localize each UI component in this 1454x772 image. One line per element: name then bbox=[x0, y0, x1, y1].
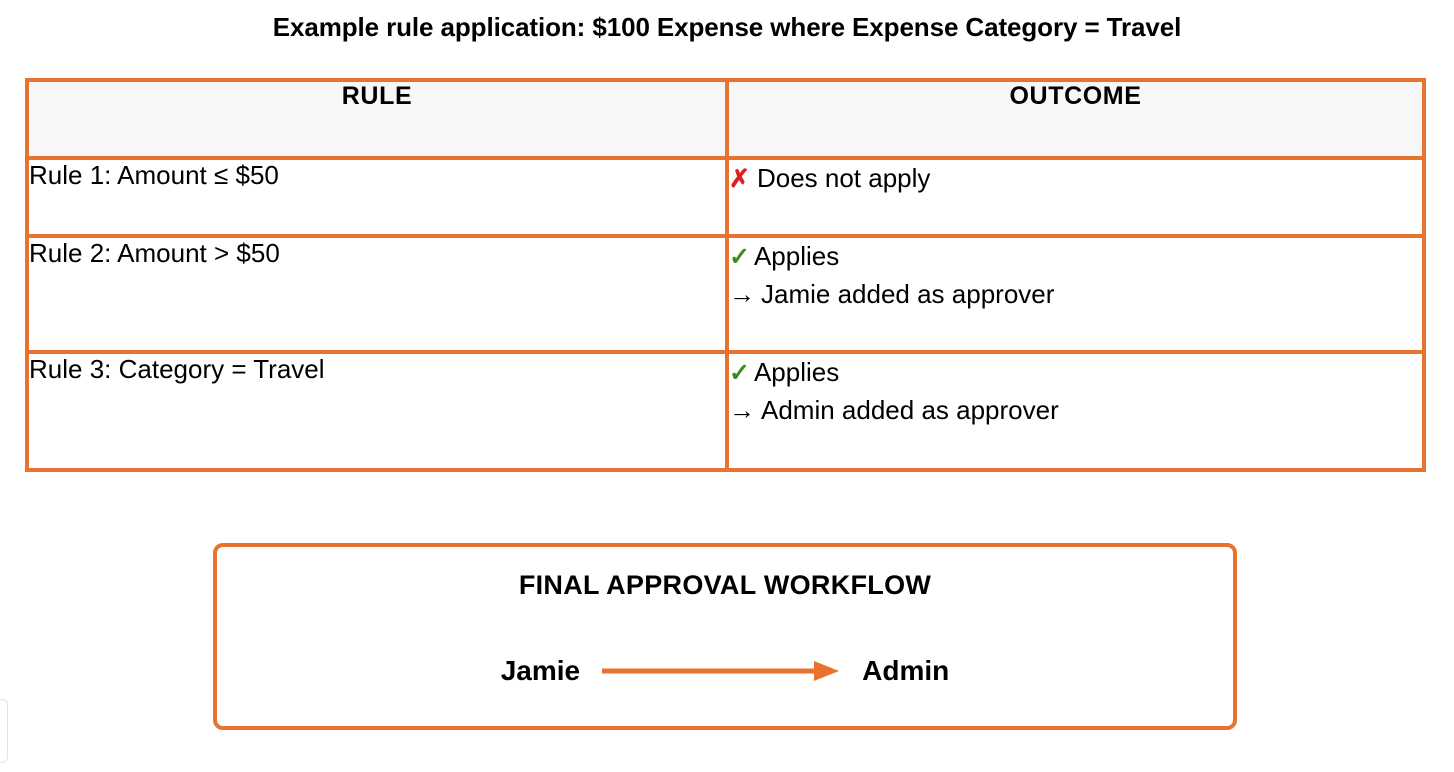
workflow-flow: Jamie Admin bbox=[217, 655, 1233, 687]
outcome-cell-1: ✗Does not apply bbox=[727, 158, 1424, 236]
outcome-cell-3: ✓Applies →Admin added as approver bbox=[727, 352, 1424, 470]
outcome-detail-line-3: →Admin added as approver bbox=[729, 392, 1422, 429]
arrow-right-icon bbox=[602, 659, 840, 683]
outcome-status-line-1: ✗Does not apply bbox=[729, 160, 1422, 198]
outcome-detail-line-2: →Jamie added as approver bbox=[729, 276, 1422, 313]
outcome-status-label-2: Applies bbox=[754, 241, 839, 271]
rules-outcome-table: RULE OUTCOME Rule 1: Amount ≤ $50 ✗Does … bbox=[25, 78, 1426, 472]
rule-text-2: Rule 2: Amount > $50 bbox=[27, 236, 727, 352]
outcome-cell-2: ✓Applies →Jamie added as approver bbox=[727, 236, 1424, 352]
outcome-detail-text-3: Admin added as approver bbox=[761, 395, 1059, 425]
workflow-node-admin: Admin bbox=[862, 655, 949, 687]
page-title: Example rule application: $100 Expense w… bbox=[0, 12, 1454, 43]
workflow-title: FINAL APPROVAL WORKFLOW bbox=[217, 570, 1233, 601]
rule-text-1: Rule 1: Amount ≤ $50 bbox=[27, 158, 727, 236]
table-row: Rule 1: Amount ≤ $50 ✗Does not apply bbox=[27, 158, 1424, 236]
column-header-rule: RULE bbox=[27, 80, 727, 158]
table-row: Rule 2: Amount > $50 ✓Applies →Jamie add… bbox=[27, 236, 1424, 352]
table-row: Rule 3: Category = Travel ✓Applies →Admi… bbox=[27, 352, 1424, 470]
rule-text-3: Rule 3: Category = Travel bbox=[27, 352, 727, 470]
table-header-row: RULE OUTCOME bbox=[27, 80, 1424, 158]
check-icon: ✓ bbox=[729, 240, 754, 276]
outcome-detail-text-2: Jamie added as approver bbox=[761, 279, 1054, 309]
outcome-status-label-3: Applies bbox=[754, 357, 839, 387]
arrow-right-icon: → bbox=[729, 392, 761, 429]
check-icon: ✓ bbox=[729, 356, 754, 392]
final-approval-workflow-box: FINAL APPROVAL WORKFLOW Jamie Admin bbox=[213, 543, 1237, 730]
arrow-right-icon: → bbox=[729, 276, 761, 313]
outcome-status-line-3: ✓Applies bbox=[729, 354, 1422, 392]
page-edge-artifact bbox=[0, 699, 8, 763]
column-header-outcome: OUTCOME bbox=[727, 80, 1424, 158]
workflow-node-jamie: Jamie bbox=[501, 655, 580, 687]
cross-icon: ✗ bbox=[729, 162, 757, 198]
outcome-status-label-1: Does not apply bbox=[757, 163, 930, 193]
outcome-status-line-2: ✓Applies bbox=[729, 238, 1422, 276]
